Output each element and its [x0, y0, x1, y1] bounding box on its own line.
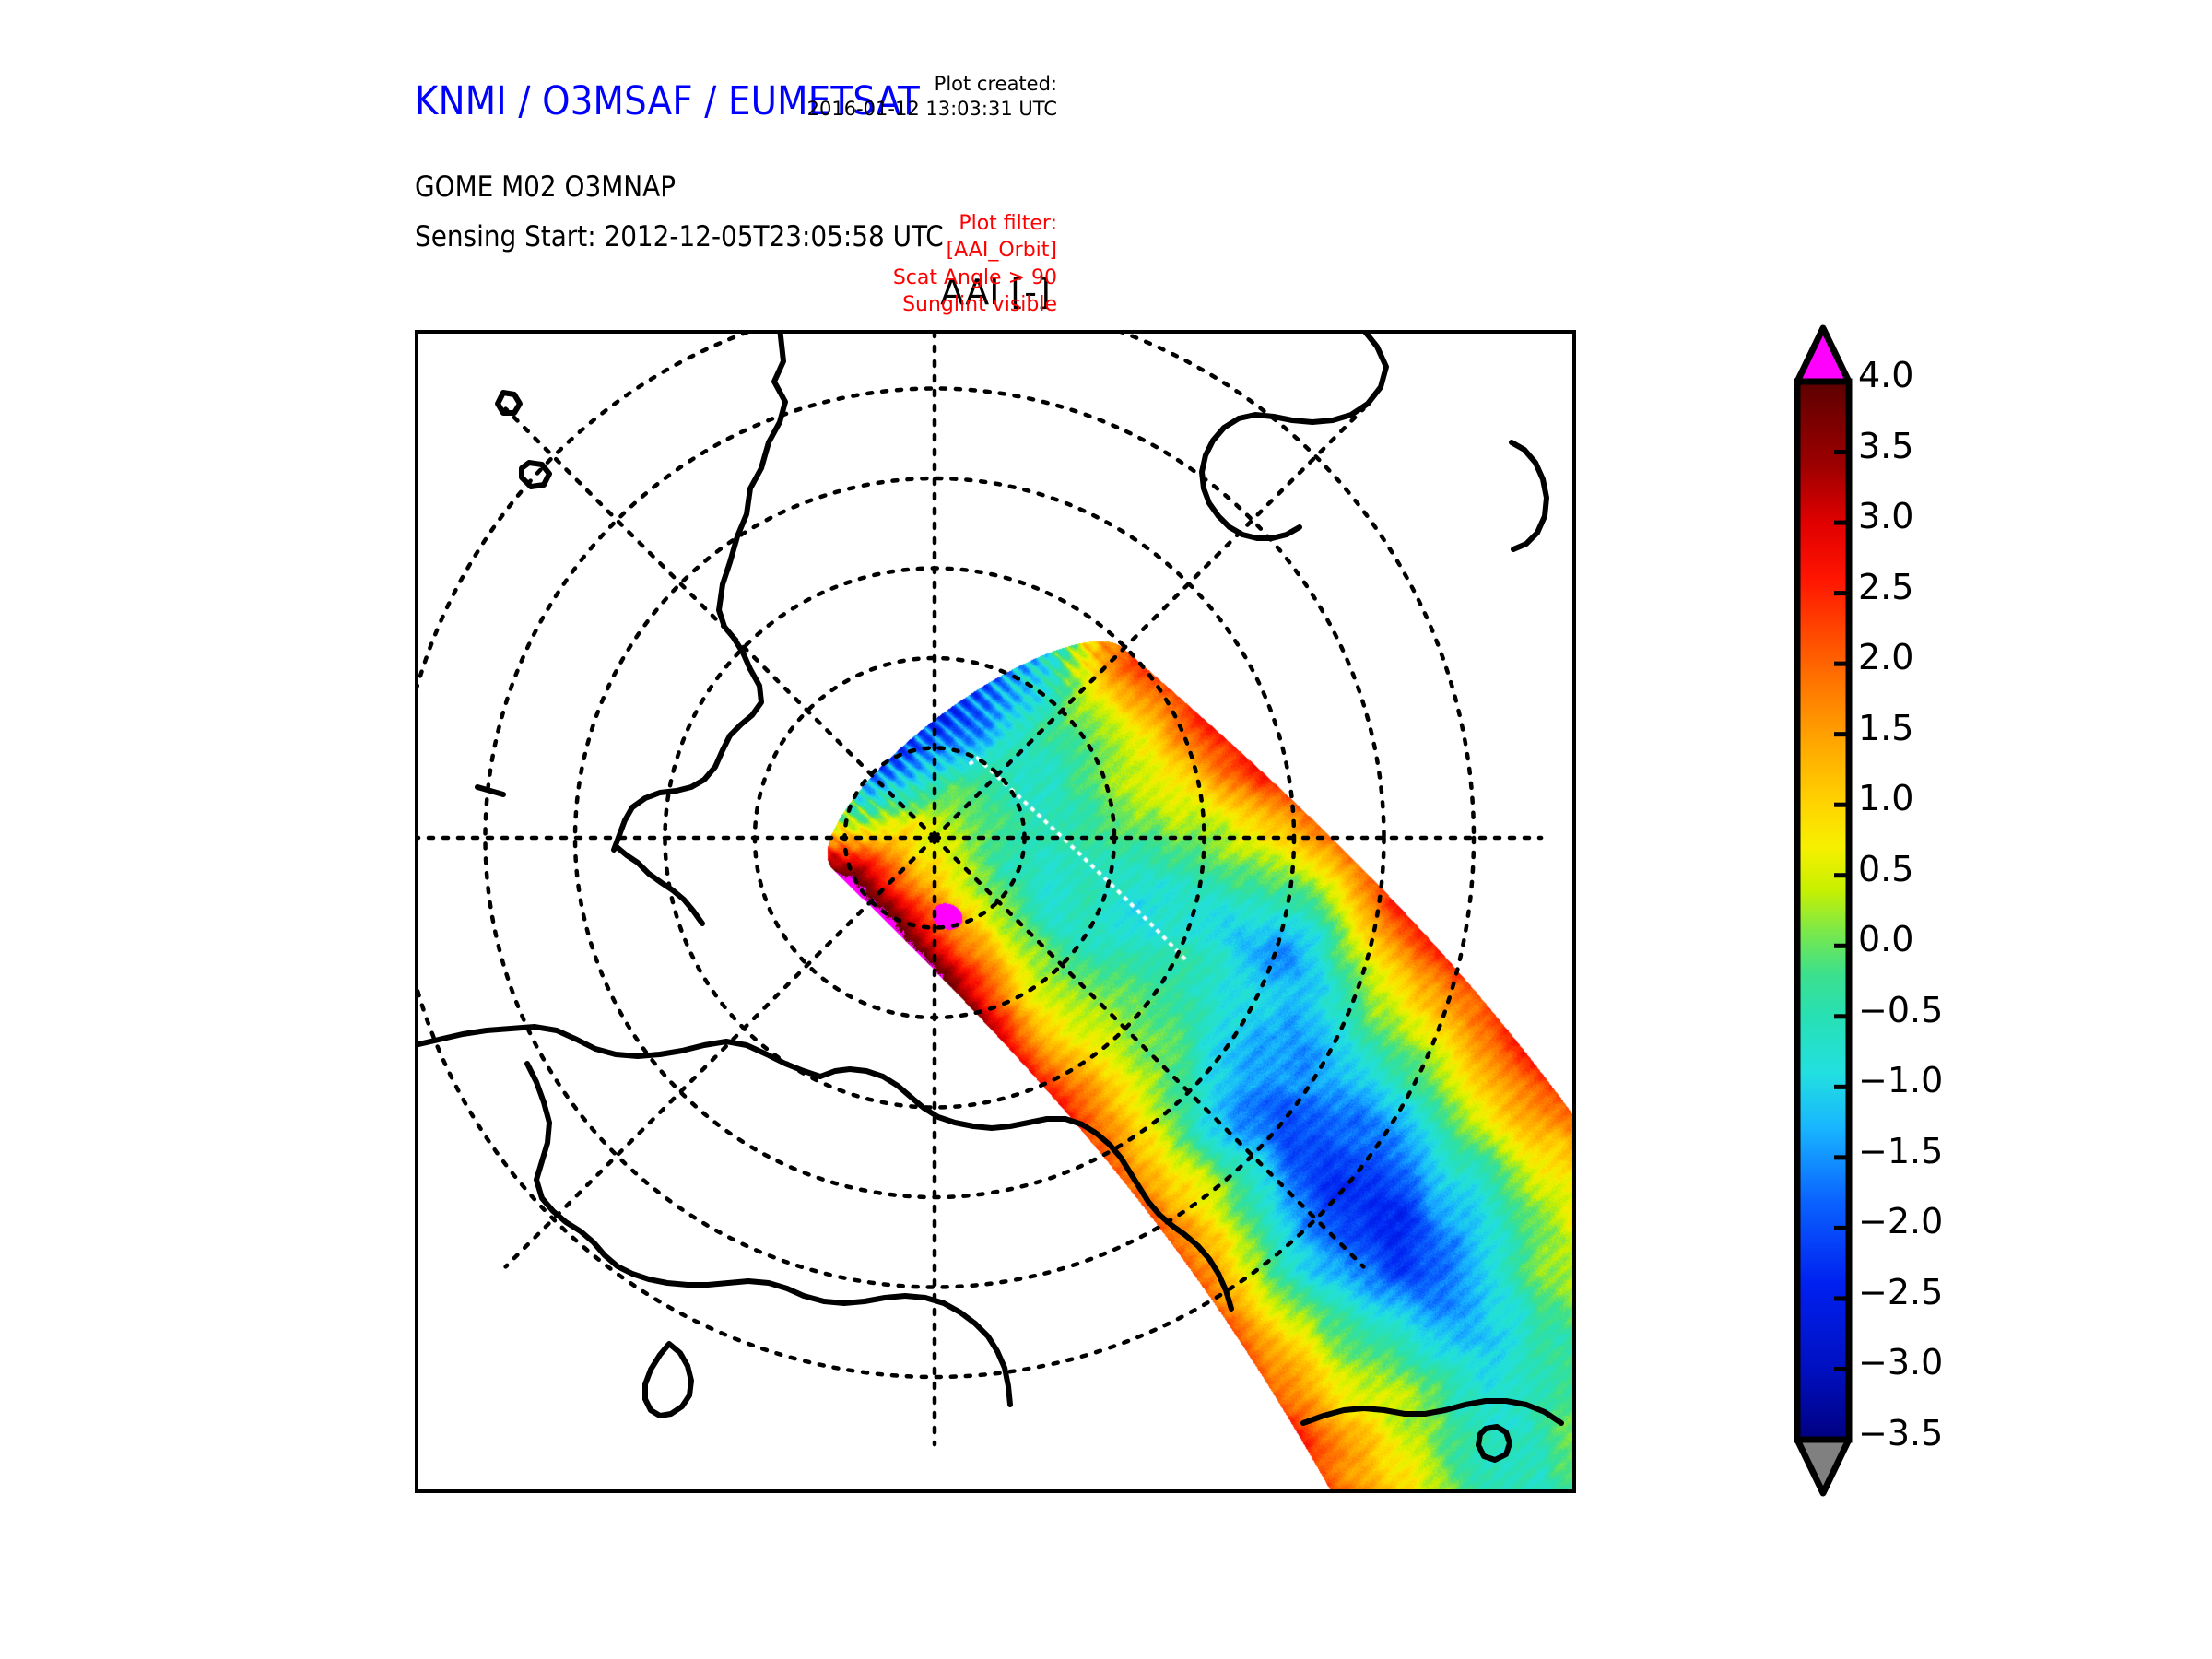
plot-filter-line-1: Plot filter:: [652, 210, 1057, 237]
colorbar-tick-label: −3.0: [1858, 1345, 1943, 1380]
graticule: [418, 334, 1541, 1444]
coastlines: [418, 334, 1561, 1460]
colorbar-tick-label: 3.0: [1858, 499, 1913, 534]
colorbar-tick-label: −2.0: [1858, 1204, 1943, 1239]
map-overlay: [418, 334, 1572, 1489]
colorbar-tick-label: 2.0: [1858, 640, 1913, 675]
plot-created-block: Plot created: 2016-01-12 13:03:31 UTC: [670, 72, 1057, 122]
plot-filter-line-3: Scat Angle > 90: [652, 265, 1057, 291]
colorbar[interactable]: 4.03.53.02.52.01.51.00.50.0−0.5−1.0−1.5−…: [1792, 324, 2179, 1513]
plot-filter-block: Plot filter: [AAI_Orbit] Scat Angle > 90…: [652, 210, 1057, 318]
plot-filter-line-4: Sunglint visible: [652, 291, 1057, 318]
colorbar-under-arrow: [1797, 1440, 1849, 1493]
colorbar-over-arrow: [1797, 328, 1849, 382]
colorbar-tick-label: −0.5: [1858, 993, 1943, 1028]
plot-created-value: 2016-01-12 13:03:31 UTC: [670, 97, 1057, 122]
plot-created-label: Plot created:: [670, 72, 1057, 97]
colorbar-tick-label: 0.5: [1858, 852, 1913, 887]
colorbar-tick-label: −1.5: [1858, 1134, 1943, 1169]
figure-canvas: KNMI / O3MSAF / EUMETSAT Plot created: 2…: [0, 0, 2212, 1659]
instrument-line: GOME M02 O3MNAP: [415, 171, 676, 204]
colorbar-tick-label: 1.0: [1858, 781, 1913, 816]
colorbar-tick-label: 3.5: [1858, 429, 1913, 464]
colorbar-tick-label: −2.5: [1858, 1275, 1943, 1310]
colorbar-graphic: [1792, 324, 2179, 1513]
colorbar-bar: [1797, 382, 1849, 1440]
colorbar-tick-label: 4.0: [1858, 358, 1913, 393]
colorbar-tick-label: 2.5: [1858, 570, 1913, 605]
plot-filter-line-2: [AAI_Orbit]: [652, 237, 1057, 264]
map-plot-area[interactable]: [415, 330, 1576, 1493]
colorbar-tick-label: −3.5: [1858, 1416, 1943, 1451]
map-clip: [418, 334, 1572, 1489]
colorbar-tick-label: −1.0: [1858, 1063, 1943, 1098]
colorbar-tick-label: 1.5: [1858, 711, 1913, 746]
colorbar-tick-label: 0.0: [1858, 922, 1913, 957]
